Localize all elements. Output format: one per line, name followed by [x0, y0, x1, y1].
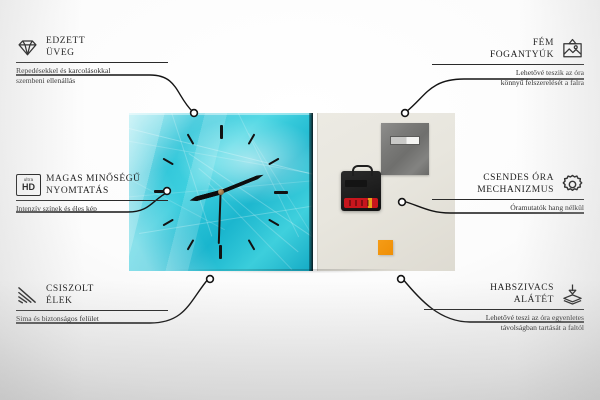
callout-desc-line2: távolságban tartását a faltól [424, 323, 584, 333]
product-image-group [129, 113, 454, 271]
callout-desc-line1: Repedésekkel és karcolásokkal [16, 66, 168, 76]
callout-divider [16, 200, 168, 201]
clock-hour-hand [188, 190, 221, 203]
callout-silent-mechanism[interactable]: CSENDES ÓRA MECHANIZMUS Óramutatók hang … [432, 173, 584, 213]
callout-metal-handles[interactable]: FÉM FOGANTYÚK Lehetővé teszik az óra kön… [432, 38, 584, 87]
callout-title-line2: ALÁTÉT [490, 295, 554, 307]
callout-high-quality-print[interactable]: ultra HD MAGAS MINŐSÉGŰ NYOMTATÁS Intenz… [16, 174, 168, 214]
hanger-slot [390, 136, 420, 145]
callout-desc-line1: Lehetővé teszik az óra [432, 68, 584, 78]
callout-desc-line1: Lehetővé teszi az óra egyenletes [424, 313, 584, 323]
callout-desc-line2: könnyű felszerelését a falra [432, 78, 584, 88]
callout-desc-line1: Sima és biztonságos felület [16, 314, 168, 324]
callout-desc-line1: Intenzív színek és éles kép [16, 204, 168, 214]
movement-hook [352, 165, 373, 176]
callout-polished-edges[interactable]: CSISZOLT ÉLEK Sima és biztonságos felüle… [16, 284, 168, 324]
callout-title-line1: HABSZIVACS [490, 283, 554, 295]
callout-title-line1: MAGAS MINŐSÉGŰ [46, 174, 141, 186]
ultra-hd-main-text: HD [22, 183, 35, 192]
diamond-icon [16, 36, 39, 59]
movement-body [345, 180, 367, 187]
callout-divider [432, 64, 584, 65]
polished-edge-icon [16, 284, 39, 307]
callout-title-line2: NYOMTATÁS [46, 186, 141, 198]
callout-title-line2: ÉLEK [46, 296, 94, 308]
clock-second-hand [218, 192, 221, 244]
battery [344, 198, 378, 208]
callout-title-line1: CSENDES ÓRA [477, 173, 554, 185]
callout-desc-line2: szembeni ellenállás [16, 76, 168, 86]
product-shadow [125, 269, 458, 279]
gear-icon [561, 173, 584, 196]
callout-title-line2: FOGANTYÚK [490, 50, 554, 62]
callout-title-line1: CSISZOLT [46, 284, 94, 296]
callout-divider [432, 199, 584, 200]
callout-title-line1: EDZETT [46, 36, 85, 48]
callout-title-line1: FÉM [490, 38, 554, 50]
foam-layers-arrow-icon [561, 283, 584, 306]
clock-movement [341, 171, 381, 211]
infographic-canvas: EDZETT ÜVEG Repedésekkel és karcolásokka… [0, 0, 600, 400]
picture-frame-icon [561, 38, 584, 61]
foam-pad [378, 240, 393, 255]
callout-divider [16, 310, 168, 311]
clock-center-hub [218, 189, 224, 195]
callout-divider [16, 62, 168, 63]
metal-hanger-plate [381, 123, 429, 175]
callout-title-line2: MECHANIZMUS [477, 185, 554, 197]
callout-title-line2: ÜVEG [46, 48, 85, 60]
clock-minute-hand [220, 173, 264, 194]
callout-divider [424, 309, 584, 310]
ultra-hd-icon: ultra HD [16, 174, 39, 197]
callout-foam-pad[interactable]: HABSZIVACS ALÁTÉT Lehetővé teszi az óra … [424, 283, 584, 332]
callout-tempered-glass[interactable]: EDZETT ÜVEG Repedésekkel és karcolásokka… [16, 36, 168, 85]
callout-desc-line1: Óramutatók hang nélkül [432, 203, 584, 213]
